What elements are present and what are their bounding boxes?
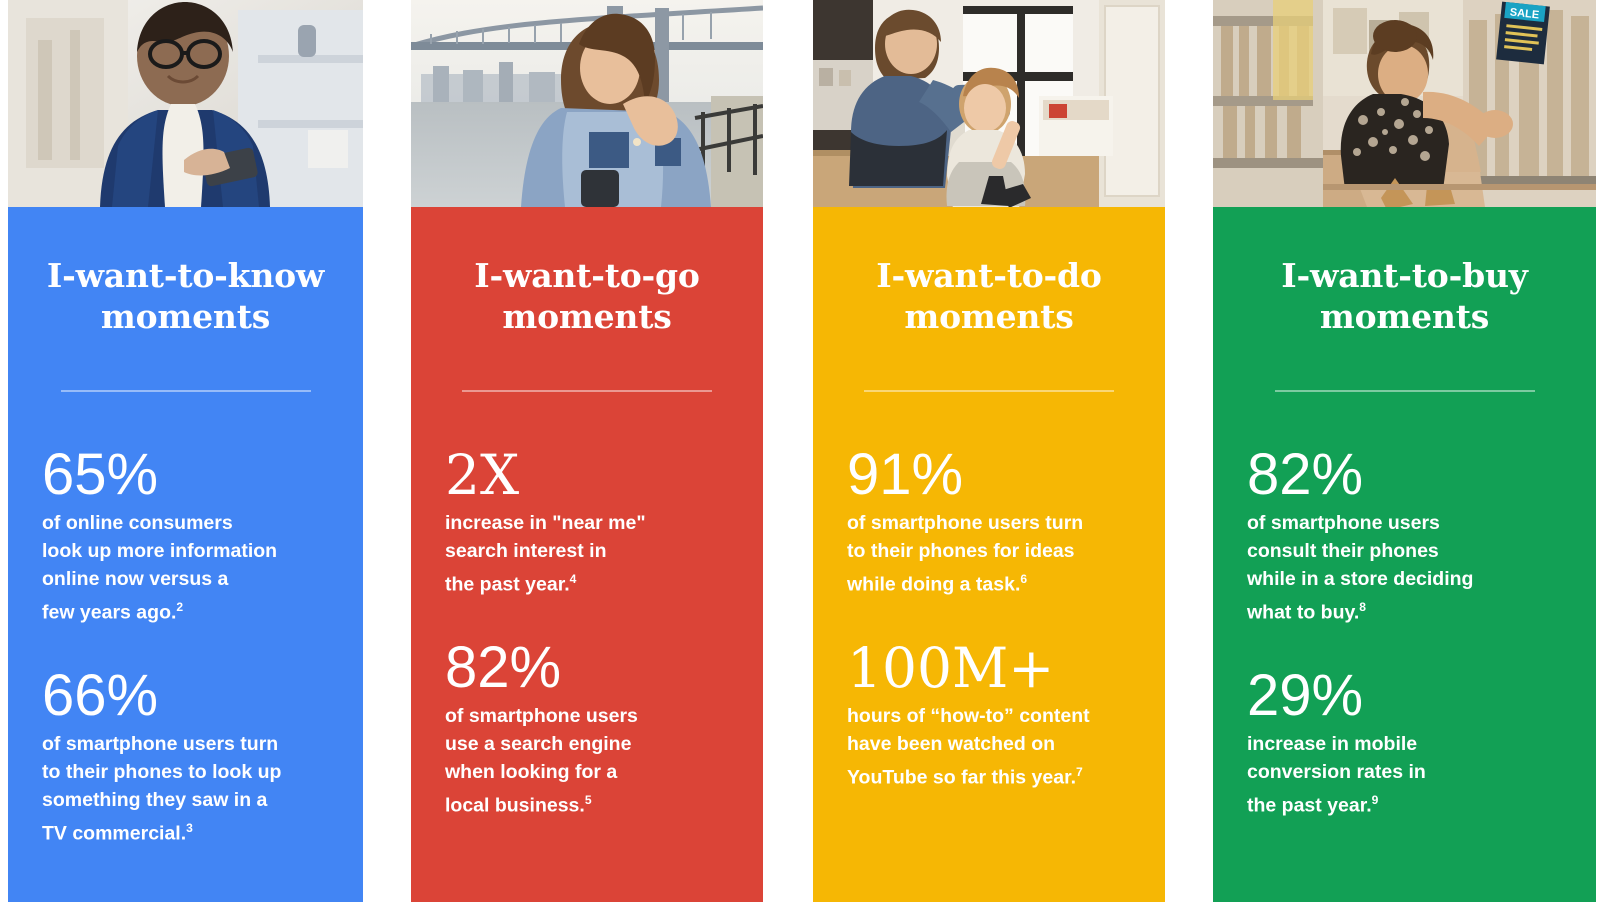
micro-moments-card-grid: I-want-to-know moments 65% of online con… xyxy=(0,0,1600,914)
card-heading: I-want-to-do moments xyxy=(843,255,1135,337)
stat-value: 82% xyxy=(1247,444,1566,506)
stat-description: increase in "near me" search interest in… xyxy=(445,509,733,599)
stat-item: 65% of online consumers look up more inf… xyxy=(42,444,333,627)
stat-value: 82% xyxy=(445,637,733,699)
stat-description: of smartphone users turn to their phones… xyxy=(42,730,333,848)
card-heading: I-want-to-buy moments xyxy=(1243,255,1566,337)
stat-item: 100M+ hours of “how-to” content have bee… xyxy=(847,637,1135,792)
card-divider xyxy=(462,390,712,392)
card-divider xyxy=(61,390,311,392)
stat-footnote: 5 xyxy=(585,793,592,807)
card-heading: I-want-to-know moments xyxy=(38,255,333,337)
stat-value: 100M+ xyxy=(847,637,1135,699)
card-i-want-to-buy: SALE xyxy=(1200,0,1600,914)
stat-description: hours of “how-to” content have been watc… xyxy=(847,702,1135,792)
card-divider xyxy=(1275,390,1535,392)
card-i-want-to-do: I-want-to-do moments 91% of smartphone u… xyxy=(800,0,1200,914)
stat-value: 29% xyxy=(1247,665,1566,727)
card-stats: 91% of smartphone users turn to their ph… xyxy=(843,444,1135,791)
card-photo-i-want-to-buy: SALE xyxy=(1213,0,1596,207)
stat-item: 82% of smartphone users use a search eng… xyxy=(445,637,733,820)
card-photo-i-want-to-do xyxy=(813,0,1165,207)
stat-description: of smartphone users consult their phones… xyxy=(1247,509,1566,627)
stat-footnote: 8 xyxy=(1359,600,1366,614)
card-photo-i-want-to-know xyxy=(8,0,363,207)
card-stats: 82% of smartphone users consult their ph… xyxy=(1243,444,1566,819)
stat-item: 82% of smartphone users consult their ph… xyxy=(1247,444,1566,627)
stat-footnote: 6 xyxy=(1020,572,1027,586)
stat-description: of smartphone users turn to their phones… xyxy=(847,509,1135,599)
stat-description: of smartphone users use a search engine … xyxy=(445,702,733,820)
stat-description: of online consumers look up more informa… xyxy=(42,509,333,627)
card-body-i-want-to-go: I-want-to-go moments 2X increase in "nea… xyxy=(411,207,763,902)
card-heading: I-want-to-go moments xyxy=(441,255,733,337)
stat-value: 65% xyxy=(42,444,333,506)
card-stats: 2X increase in "near me" search interest… xyxy=(441,444,733,819)
card-body-i-want-to-know: I-want-to-know moments 65% of online con… xyxy=(8,207,363,902)
card-body-i-want-to-do: I-want-to-do moments 91% of smartphone u… xyxy=(813,207,1165,902)
stat-value: 91% xyxy=(847,444,1135,506)
stat-footnote: 3 xyxy=(186,821,193,835)
stat-item: 29% increase in mobile conversion rates … xyxy=(1247,665,1566,820)
stat-footnote: 9 xyxy=(1372,793,1379,807)
stat-footnote: 4 xyxy=(570,572,577,586)
stat-value: 66% xyxy=(42,665,333,727)
card-divider xyxy=(864,390,1114,392)
stat-value: 2X xyxy=(445,444,733,506)
stat-item: 66% of smartphone users turn to their ph… xyxy=(42,665,333,848)
stat-description: increase in mobile conversion rates in t… xyxy=(1247,730,1566,820)
stat-footnote: 7 xyxy=(1076,765,1083,779)
card-photo-i-want-to-go xyxy=(411,0,763,207)
card-i-want-to-go: I-want-to-go moments 2X increase in "nea… xyxy=(400,0,800,914)
stat-item: 2X increase in "near me" search interest… xyxy=(445,444,733,599)
card-i-want-to-know: I-want-to-know moments 65% of online con… xyxy=(0,0,400,914)
stat-footnote: 2 xyxy=(176,600,183,614)
stat-item: 91% of smartphone users turn to their ph… xyxy=(847,444,1135,599)
card-body-i-want-to-buy: I-want-to-buy moments 82% of smartphone … xyxy=(1213,207,1596,902)
card-stats: 65% of online consumers look up more inf… xyxy=(38,444,333,847)
